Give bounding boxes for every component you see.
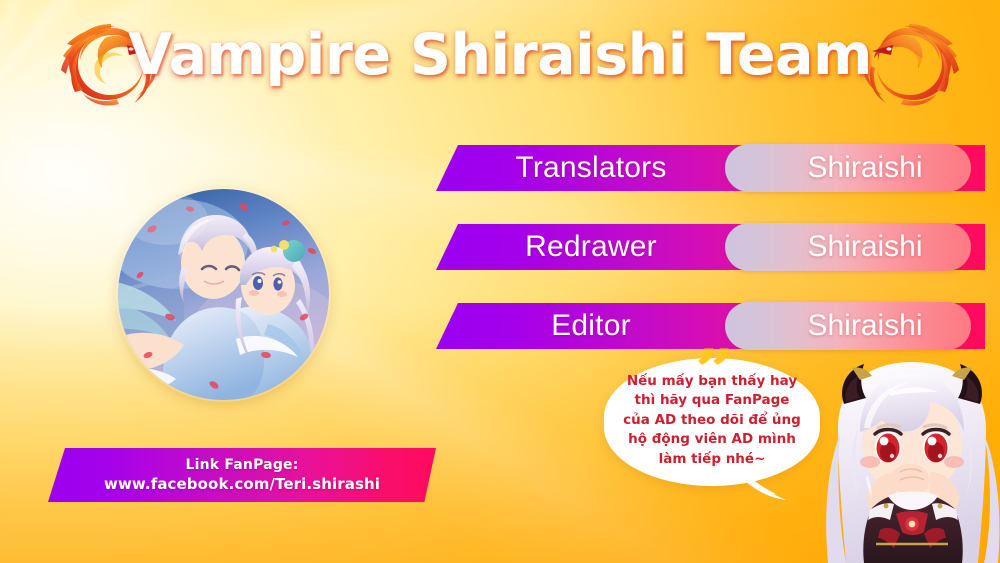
credit-name-label: Shiraishi: [725, 302, 971, 350]
credit-role-label: Redrawer: [436, 224, 746, 270]
credit-name-label: Shiraishi: [725, 144, 971, 192]
page-title: Vampire Shiraishi Team: [0, 22, 1000, 88]
anime-couple-artwork: [118, 189, 329, 400]
credit-name-pill: Shiraishi: [725, 302, 971, 350]
bubble-line: của AD theo dõi để ủng: [623, 411, 801, 429]
credits-page: Vampire Shiraishi Team: [0, 0, 1000, 563]
credit-row: Translators Shiraishi: [436, 145, 985, 191]
fanpage-url: www.facebook.com/Teri.shirashi: [104, 475, 380, 493]
bubble-line: làm tiếp nhé~: [659, 450, 766, 468]
bubble-line: thì hãy qua FanPage: [635, 391, 790, 409]
credit-role-label: Translators: [436, 145, 746, 191]
fanpage-label: Link FanPage:: [185, 457, 298, 473]
credit-name-pill: Shiraishi: [725, 144, 971, 192]
bubble-line: Nếu mấy bạn thấy hay: [627, 372, 797, 390]
credit-name-pill: Shiraishi: [725, 223, 971, 271]
fanpage-link-banner[interactable]: Link FanPage: www.facebook.com/Teri.shir…: [48, 448, 436, 502]
credit-name-label: Shiraishi: [725, 223, 971, 271]
credit-row: Redrawer Shiraishi: [436, 224, 985, 270]
bubble-line: hộ động viên AD mình: [628, 430, 796, 448]
speech-bubble: ” Nếu mấy bạn thấy hay thì hãy qua FanPa…: [604, 358, 820, 486]
chibi-girl-character: [820, 358, 1000, 563]
speech-bubble-text: Nếu mấy bạn thấy hay thì hãy qua FanPage…: [604, 358, 820, 486]
